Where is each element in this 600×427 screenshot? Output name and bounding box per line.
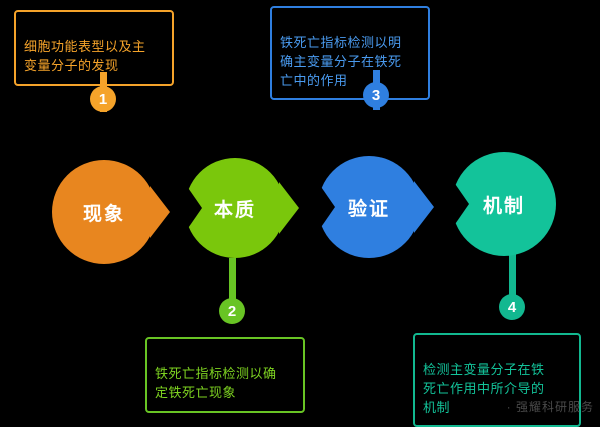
chevron-cut-icon [184, 182, 202, 234]
process-node-4: 机制 [452, 152, 556, 256]
process-node-1: 现象 [52, 160, 156, 264]
process-node-label-4: 机制 [483, 191, 525, 218]
callout-text-3: 铁死亡指标检测以明 确主变量分子在铁死 亡中的作用 [280, 35, 402, 88]
step-number-badge-2: 2 [219, 298, 245, 324]
callout-text-2: 铁死亡指标检测以确 定铁死亡现象 [155, 366, 277, 400]
callout-box-3: 铁死亡指标检测以明 确主变量分子在铁死 亡中的作用 [270, 6, 430, 100]
process-node-label-1: 现象 [83, 199, 125, 226]
step-number-3: 3 [372, 87, 380, 104]
process-node-3: 验证 [318, 156, 420, 258]
callout-text-1: 细胞功能表型以及主 变量分子的发现 [24, 39, 146, 73]
arrow-notch-icon [150, 186, 170, 238]
step-number-badge-1: 1 [90, 86, 116, 112]
step-number-badge-3: 3 [363, 82, 389, 108]
arrow-notch-icon [414, 181, 434, 233]
process-node-2: 本质 [185, 158, 285, 258]
arrow-notch-icon [279, 182, 299, 234]
chevron-cut-icon [317, 181, 335, 233]
watermark: · 强耀科研服务 [507, 398, 594, 415]
step-number-2: 2 [228, 303, 236, 320]
process-node-label-2: 本质 [214, 195, 256, 222]
step-number-badge-4: 4 [499, 294, 525, 320]
step-number-4: 4 [508, 299, 516, 316]
diagram-canvas: 细胞功能表型以及主 变量分子的发现 铁死亡指标检测以明 确主变量分子在铁死 亡中… [0, 0, 600, 419]
chevron-cut-icon [451, 178, 469, 230]
callout-box-1: 细胞功能表型以及主 变量分子的发现 [14, 10, 174, 86]
callout-box-2: 铁死亡指标检测以确 定铁死亡现象 [145, 337, 305, 413]
process-node-label-3: 验证 [348, 194, 390, 221]
step-number-1: 1 [99, 91, 107, 108]
